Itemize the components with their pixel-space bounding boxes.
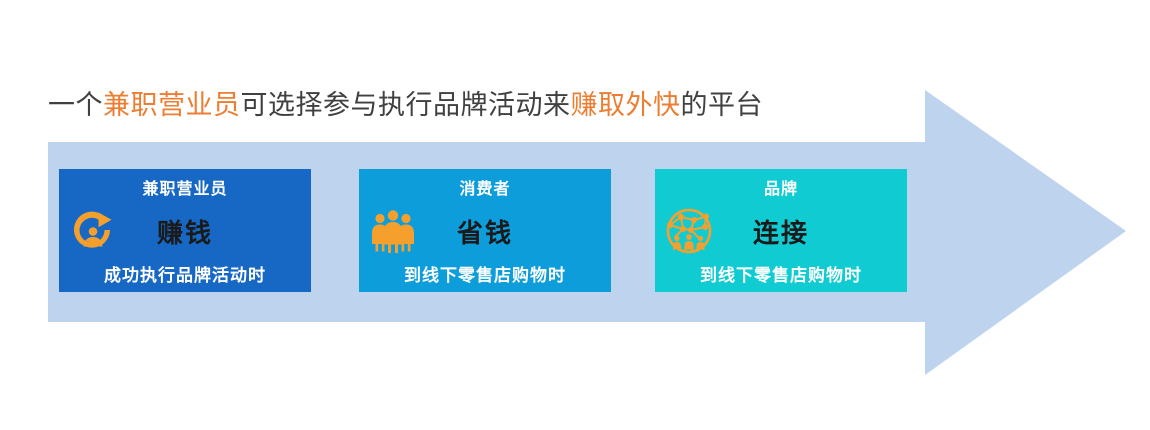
card-title: 消费者 [359,175,611,199]
headline-highlight-benefit: 赚取外快 [571,90,681,120]
card-footer-note: 成功执行品牌活动时 [59,261,311,286]
card-main-label: 连接 [655,213,907,250]
card-footer-note: 到线下零售店购物时 [359,261,611,286]
headline-highlight-role: 兼职营业员 [103,90,241,120]
card-title: 兼职营业员 [59,175,311,199]
headline-part-2: 可选择参与执行品牌活动来 [241,90,571,120]
headline-part-1: 一个 [48,90,103,120]
card-part-time-clerk[interactable]: 兼职营业员 赚钱 成功执行品牌活动时 [59,169,311,292]
card-main-label: 省钱 [359,213,611,250]
cards-row: 兼职营业员 赚钱 成功执行品牌活动时 消费者 省钱 到线下零售店购物时 [59,169,909,292]
card-consumer[interactable]: 消费者 省钱 到线下零售店购物时 [359,169,611,292]
page-title: 一个兼职营业员可选择参与执行品牌活动来赚取外快的平台 [48,85,763,125]
card-main-label: 赚钱 [59,213,311,250]
card-brand[interactable]: 品牌 连接 到线下零售店购物时 [655,169,907,292]
headline-part-3: 的平台 [681,90,764,120]
card-title: 品牌 [655,175,907,199]
card-footer-note: 到线下零售店购物时 [655,261,907,286]
